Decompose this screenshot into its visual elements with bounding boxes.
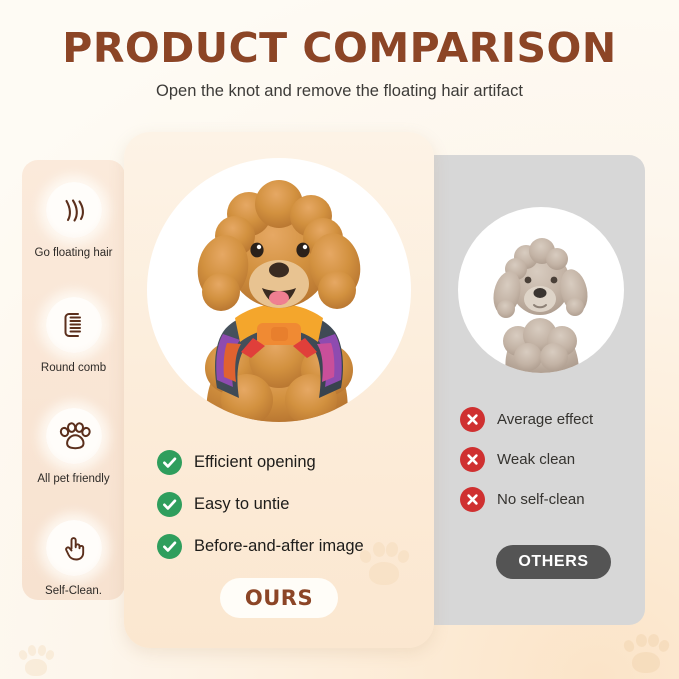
sidebar-item-go-floating-hair[interactable]: Go floating hair <box>22 182 125 259</box>
list-item-label: No self-clean <box>497 491 585 508</box>
comb-icon <box>46 297 102 353</box>
sidebar-item-label: All pet friendly <box>22 473 125 485</box>
check-circle-icon <box>157 450 182 475</box>
ours-badge: OURS <box>220 578 338 618</box>
feature-rail: Go floating hair Round comb <box>22 160 125 600</box>
others-product-photo <box>458 207 624 373</box>
cross-circle-icon <box>460 447 485 472</box>
list-item-label: Efficient opening <box>194 453 316 472</box>
sidebar-item-all-pet-friendly[interactable]: All pet friendly <box>22 408 125 485</box>
list-item: Easy to untie <box>157 492 407 517</box>
ours-product-photo <box>147 158 411 422</box>
header: PRODUCT COMPARISON Open the knot and rem… <box>0 24 679 101</box>
cross-circle-icon <box>460 487 485 512</box>
sidebar-item-round-comb[interactable]: Round comb <box>22 297 125 374</box>
sidebar-item-self-clean[interactable]: Self-Clean. <box>22 520 125 597</box>
paw-icon <box>46 408 102 464</box>
floating-hair-icon <box>46 182 102 238</box>
list-item-label: Average effect <box>497 411 593 428</box>
list-item: Before-and-after image <box>157 534 407 559</box>
check-circle-icon <box>157 534 182 559</box>
dull-poodle-illustration <box>466 223 616 373</box>
others-feature-list: Average effect Weak clean No self-clean <box>460 407 640 527</box>
list-item: Efficient opening <box>157 450 407 475</box>
sidebar-item-label: Self-Clean. <box>22 585 125 597</box>
ours-card: Efficient opening Easy to untie Before-a… <box>124 132 434 648</box>
infographic-canvas: PRODUCT COMPARISON Open the knot and rem… <box>0 0 679 679</box>
list-item: Average effect <box>460 407 640 432</box>
hand-tap-icon <box>46 520 102 576</box>
list-item: No self-clean <box>460 487 640 512</box>
sidebar-item-label: Round comb <box>22 362 125 374</box>
sidebar-item-label: Go floating hair <box>22 247 125 259</box>
list-item: Weak clean <box>460 447 640 472</box>
background-paw-watermark-2 <box>16 640 56 678</box>
others-badge: OTHERS <box>496 545 611 579</box>
check-circle-icon <box>157 492 182 517</box>
list-item-label: Weak clean <box>497 451 575 468</box>
groomed-poodle-illustration <box>161 172 397 422</box>
list-item-label: Before-and-after image <box>194 537 364 556</box>
cross-circle-icon <box>460 407 485 432</box>
page-subtitle: Open the knot and remove the floating ha… <box>0 82 679 101</box>
page-title: PRODUCT COMPARISON <box>0 24 679 72</box>
background-paw-watermark <box>620 628 672 676</box>
ours-feature-list: Efficient opening Easy to untie Before-a… <box>157 450 407 576</box>
others-card: Average effect Weak clean No self-clean … <box>434 155 645 625</box>
list-item-label: Easy to untie <box>194 495 289 514</box>
